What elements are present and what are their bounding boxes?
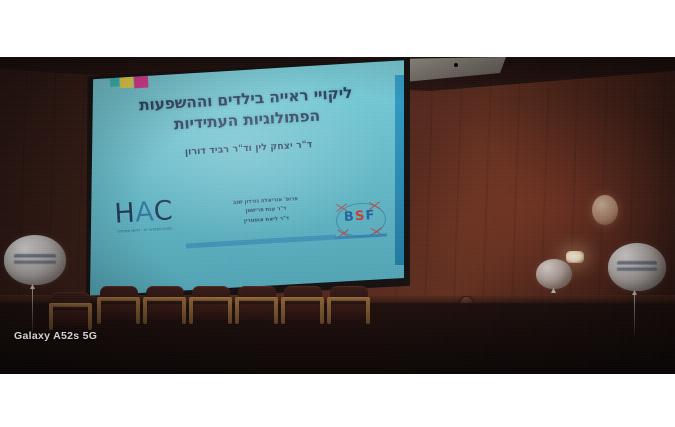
chair-arm-top <box>235 297 278 301</box>
chair-arm <box>143 298 147 324</box>
chair-seat <box>285 304 321 320</box>
chair-seat <box>331 304 367 320</box>
chair-seat <box>147 304 183 320</box>
chair-arm <box>182 298 186 324</box>
stage-chair <box>234 286 280 328</box>
wall-light-fixture <box>566 251 584 263</box>
stage-chair <box>326 286 372 328</box>
ceiling-fixture-dot <box>454 63 458 67</box>
stage-chair <box>280 286 326 328</box>
chair-arm <box>97 298 101 324</box>
hac-logo-mark: HAC <box>100 196 187 228</box>
chair-arm-top <box>281 297 324 301</box>
chair-arm <box>327 298 331 324</box>
stage-chair <box>48 292 94 334</box>
stage-chair <box>188 286 234 328</box>
chair-arm <box>366 298 370 324</box>
chair-arm <box>228 298 232 324</box>
chair-arm <box>189 298 193 324</box>
chair-seat <box>101 304 137 320</box>
auditorium-photograph: ליקויי ראייה בילדים וההשפעות הפתולוגיות … <box>0 57 675 374</box>
chair-seat <box>193 304 229 320</box>
balloon-printed-text <box>617 261 656 272</box>
chair-arm-top <box>97 297 140 301</box>
chair-arm <box>136 298 140 324</box>
slide-bottom-band <box>186 235 336 249</box>
wall-sconce <box>592 195 618 225</box>
bsf-letter-f: F <box>365 208 376 224</box>
balloon-string <box>634 295 635 335</box>
chair-arm-top <box>49 303 92 307</box>
hac-logo: HAC המרכז האקדמי לב · הדסה אקדמיה <box>100 196 188 235</box>
balloon-body <box>4 235 66 285</box>
projection-screen-slide: ליקויי ראייה בילדים וההשפעות הפתולוגיות … <box>90 59 404 297</box>
bsf-logo: BSF <box>331 197 389 242</box>
balloon-body <box>536 259 572 289</box>
chair-arm <box>281 298 285 324</box>
camera-watermark: Galaxy A52s 5G <box>14 330 97 342</box>
chair-arm <box>235 298 239 324</box>
stage-chair <box>96 286 142 328</box>
stage-chair <box>142 286 188 328</box>
chair-seat <box>53 310 89 326</box>
slide-edge-strip <box>395 75 404 265</box>
deco-square-magenta <box>134 76 149 89</box>
balloon-string <box>32 289 33 331</box>
slide-credits-block: פרופ' אוריאלה גורדון שגב ד"ר ענת פרישמן … <box>205 193 326 228</box>
page-frame: ליקויי ראייה בילדים וההשפעות הפתולוגיות … <box>0 0 675 427</box>
balloon-body <box>608 243 666 291</box>
balloon-printed-text <box>14 254 56 265</box>
chair-arm <box>49 304 53 330</box>
chair-arm <box>88 304 92 330</box>
chair-arm <box>320 298 324 324</box>
chair-arm-top <box>189 297 232 301</box>
deco-square-lightyellow <box>120 76 134 88</box>
chair-arm-top <box>143 297 186 301</box>
slide-authors: ד"ר יצחק לין וד"ר רביד דורון <box>102 134 396 162</box>
chair-seat <box>239 304 275 320</box>
chair-arm <box>274 298 278 324</box>
chair-arm-top <box>327 297 370 301</box>
